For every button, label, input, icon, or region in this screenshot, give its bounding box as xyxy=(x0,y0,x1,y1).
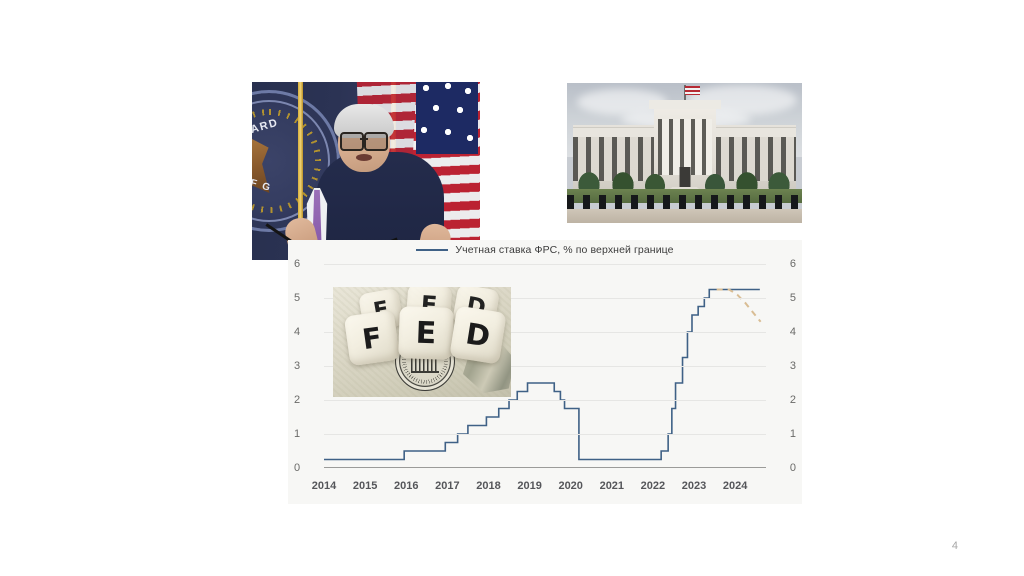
x-axis-tick: 2020 xyxy=(558,480,582,492)
y-axis-tick-left: 5 xyxy=(294,292,300,304)
y-axis-tick-right: 6 xyxy=(790,258,796,270)
gridline xyxy=(324,400,766,401)
x-axis-tick: 2017 xyxy=(435,480,459,492)
fed-seal-text-top: BOARD xyxy=(252,117,280,142)
gridline xyxy=(324,264,766,265)
x-axis-tick: 2014 xyxy=(312,480,336,492)
fed-seal-text-bottom: OF G xyxy=(252,175,273,194)
y-axis-tick-left: 1 xyxy=(294,428,300,440)
series-line-forecast xyxy=(717,290,761,322)
x-axis-tick: 2019 xyxy=(517,480,541,492)
y-axis-tick-left: 0 xyxy=(294,462,300,474)
photo-eccles-building xyxy=(567,83,802,223)
x-axis-ticks: 2014201520162017201820192020202120222023… xyxy=(324,474,766,504)
y-axis-tick-right: 0 xyxy=(790,462,796,474)
flag-stars xyxy=(416,82,478,154)
die-front-e: E xyxy=(398,306,454,360)
x-axis-tick: 2023 xyxy=(682,480,706,492)
chart-legend: Учетная ставка ФРС, % по верхней границе xyxy=(288,244,802,256)
y-axis-tick-left: 4 xyxy=(294,326,300,338)
x-axis-tick: 2024 xyxy=(723,480,747,492)
x-axis-tick: 2022 xyxy=(641,480,665,492)
y-axis-tick-right: 3 xyxy=(790,360,796,372)
slide-canvas: { "slide": { "page_number": "4", "backgr… xyxy=(0,0,1024,576)
x-axis-tick: 2018 xyxy=(476,480,500,492)
x-axis-tick: 2016 xyxy=(394,480,418,492)
y-axis-tick-right: 1 xyxy=(790,428,796,440)
legend-swatch-rate xyxy=(416,249,448,251)
photo-powell-press-conference: BOARD OF G xyxy=(252,82,480,260)
ground xyxy=(567,209,802,223)
y-axis-tick-right: 2 xyxy=(790,394,796,406)
fed-seal-text: BOARD OF G xyxy=(252,121,317,203)
y-axis-tick-left: 2 xyxy=(294,394,300,406)
glasses-lens-left xyxy=(340,132,364,151)
y-axis-tick-left: 6 xyxy=(294,258,300,270)
powell-mouth xyxy=(356,154,372,161)
photo-fed-dice: F E D F E D xyxy=(333,287,511,397)
y-axis-tick-left: 3 xyxy=(294,360,300,372)
page-number: 4 xyxy=(952,540,958,552)
y-axis-tick-right: 4 xyxy=(790,326,796,338)
x-axis-tick: 2015 xyxy=(353,480,377,492)
glasses-lens-right xyxy=(364,132,388,151)
legend-label-rate: Учетная ставка ФРС, % по верхней границе xyxy=(455,244,673,256)
building-pediment xyxy=(649,100,721,109)
x-axis-line xyxy=(324,467,766,468)
y-axis-tick-right: 5 xyxy=(790,292,796,304)
die-front-d: D xyxy=(449,305,507,364)
die-front-f: F xyxy=(344,310,400,366)
x-axis-tick: 2021 xyxy=(600,480,624,492)
glasses-icon xyxy=(340,132,388,147)
flag-canton xyxy=(416,82,478,154)
us-flag-icon xyxy=(685,86,700,95)
gridline xyxy=(324,434,766,435)
